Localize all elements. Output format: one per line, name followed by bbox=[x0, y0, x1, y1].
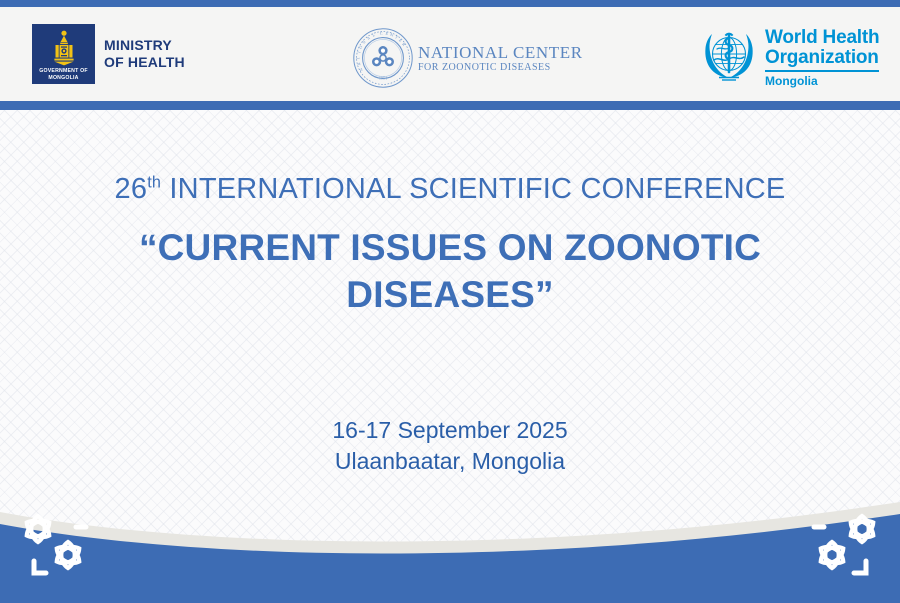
ministry-name-line1: MINISTRY bbox=[104, 37, 185, 54]
national-center-name: NATIONAL CENTER FOR ZOONOTIC DISEASES bbox=[418, 43, 583, 74]
svg-text:N: N bbox=[358, 67, 364, 72]
soyombo-symbol bbox=[51, 29, 77, 69]
who-wordmark: World Health Organization Mongolia bbox=[765, 28, 879, 88]
national-center-name-line2: FOR ZOONOTIC DISEASES bbox=[418, 62, 583, 74]
crest-caption: GOVERNMENT OF MONGOLIA bbox=[32, 68, 95, 81]
svg-text:C: C bbox=[380, 31, 383, 36]
svg-text:O: O bbox=[358, 45, 364, 50]
who-divider-rule bbox=[765, 70, 879, 72]
title-block: 26th INTERNATIONAL SCIENTIFIC CONFERENCE… bbox=[0, 172, 900, 318]
triquetra-knot-ornament-left bbox=[14, 507, 98, 581]
page-title: “CURRENT ISSUES ON ZOONOTIC DISEASES” bbox=[0, 224, 900, 318]
svg-text:I: I bbox=[356, 50, 361, 53]
who-emblem-icon bbox=[700, 30, 758, 84]
logo-header: GOVERNMENT OF MONGOLIA MINISTRY OF HEALT… bbox=[0, 7, 900, 101]
top-accent-bar bbox=[0, 0, 900, 7]
national-center-name-line1: NATIONAL CENTER bbox=[418, 43, 583, 62]
svg-text:N: N bbox=[361, 39, 367, 45]
biohazard-seal-icon: 1951 N A T I O N A L C E N T E R bbox=[352, 27, 414, 89]
page-title-line2: DISEASES” bbox=[0, 271, 900, 318]
who-mongolia-logo: World Health Organization Mongolia bbox=[700, 28, 879, 88]
svg-text:R: R bbox=[401, 42, 407, 47]
svg-text:E: E bbox=[385, 31, 389, 36]
crest-caption-line1: GOVERNMENT OF bbox=[32, 68, 95, 74]
triquetra-knot-ornament-right bbox=[802, 507, 886, 581]
conference-title-slide: GOVERNMENT OF MONGOLIA MINISTRY OF HEALT… bbox=[0, 0, 900, 603]
page-title-line1: “CURRENT ISSUES ON ZOONOTIC bbox=[0, 224, 900, 271]
header-divider-bar bbox=[0, 101, 900, 110]
ministry-of-health-name: MINISTRY OF HEALTH bbox=[104, 37, 185, 71]
crest-caption-line2: MONGOLIA bbox=[32, 75, 95, 81]
who-name-line2: Organization bbox=[765, 48, 879, 68]
svg-text:T: T bbox=[356, 56, 361, 59]
who-country-label: Mongolia bbox=[765, 74, 879, 88]
ministry-of-health-logo: GOVERNMENT OF MONGOLIA MINISTRY OF HEALT… bbox=[32, 24, 185, 84]
svg-text:A: A bbox=[366, 35, 372, 41]
seal-year: 1951 bbox=[379, 75, 387, 80]
who-name-line1: World Health bbox=[765, 28, 879, 48]
conference-edition-line: 26th INTERNATIONAL SCIENTIFIC CONFERENCE bbox=[0, 172, 900, 206]
event-date: 16-17 September 2025 bbox=[0, 415, 900, 446]
edition-rest: INTERNATIONAL SCIENTIFIC CONFERENCE bbox=[161, 173, 785, 205]
footer-wave bbox=[0, 468, 900, 603]
ministry-name-line2: OF HEALTH bbox=[104, 54, 185, 71]
svg-text:N: N bbox=[390, 32, 395, 38]
government-of-mongolia-crest: GOVERNMENT OF MONGOLIA bbox=[32, 24, 95, 84]
edition-ordinal-suffix: th bbox=[147, 173, 161, 191]
national-center-zoonotic-diseases-logo: 1951 N A T I O N A L C E N T E R bbox=[352, 27, 583, 89]
edition-number: 26 bbox=[115, 173, 148, 205]
